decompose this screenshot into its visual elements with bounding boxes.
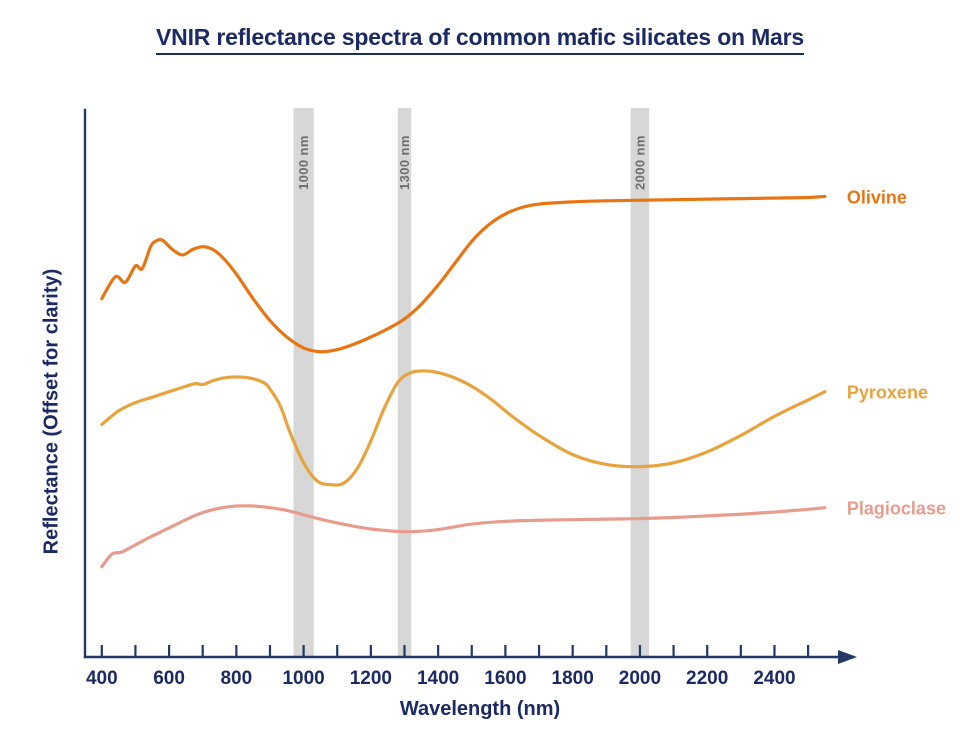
band-label-2000: 2000 nm	[632, 135, 647, 190]
spectrum-curve-pyroxene	[102, 371, 825, 485]
x-tick-label-600: 600	[153, 668, 185, 689]
band-label-1000: 1000 nm	[296, 135, 311, 190]
series-labels: OlivinePyroxenePlagioclase	[847, 187, 946, 518]
series-label-pyroxene: Pyroxene	[847, 383, 928, 403]
chart-container: VNIR reflectance spectra of common mafic…	[0, 0, 960, 746]
band-label-1300: 1300 nm	[397, 135, 412, 190]
x-tick-label-2000: 2000	[619, 668, 661, 689]
series-label-plagioclase: Plagioclase	[847, 499, 946, 519]
series-label-olivine: Olivine	[847, 187, 907, 207]
spectrum-curve-plagioclase	[102, 506, 825, 567]
x-tick-label-400: 400	[86, 668, 118, 689]
x-tick-label-1600: 1600	[484, 668, 526, 689]
absorption-bands	[294, 108, 650, 657]
x-tick-label-1800: 1800	[552, 668, 594, 689]
x-tick-label-2400: 2400	[753, 668, 795, 689]
x-tick-label-1200: 1200	[350, 668, 392, 689]
x-axis-arrowhead	[838, 650, 857, 664]
spectra-plot: 4006008001000120014001600180020002200240…	[0, 0, 960, 746]
x-tick-label-1000: 1000	[282, 668, 324, 689]
x-tick-label-800: 800	[220, 668, 252, 689]
x-tick-label-1400: 1400	[417, 668, 459, 689]
axis-tick-labels: 4006008001000120014001600180020002200240…	[86, 668, 796, 689]
x-tick-label-2200: 2200	[686, 668, 728, 689]
spectra-curves	[102, 196, 825, 566]
band-labels: 1000 nm1300 nm2000 nm	[296, 135, 647, 190]
spectrum-curve-olivine	[102, 196, 825, 351]
